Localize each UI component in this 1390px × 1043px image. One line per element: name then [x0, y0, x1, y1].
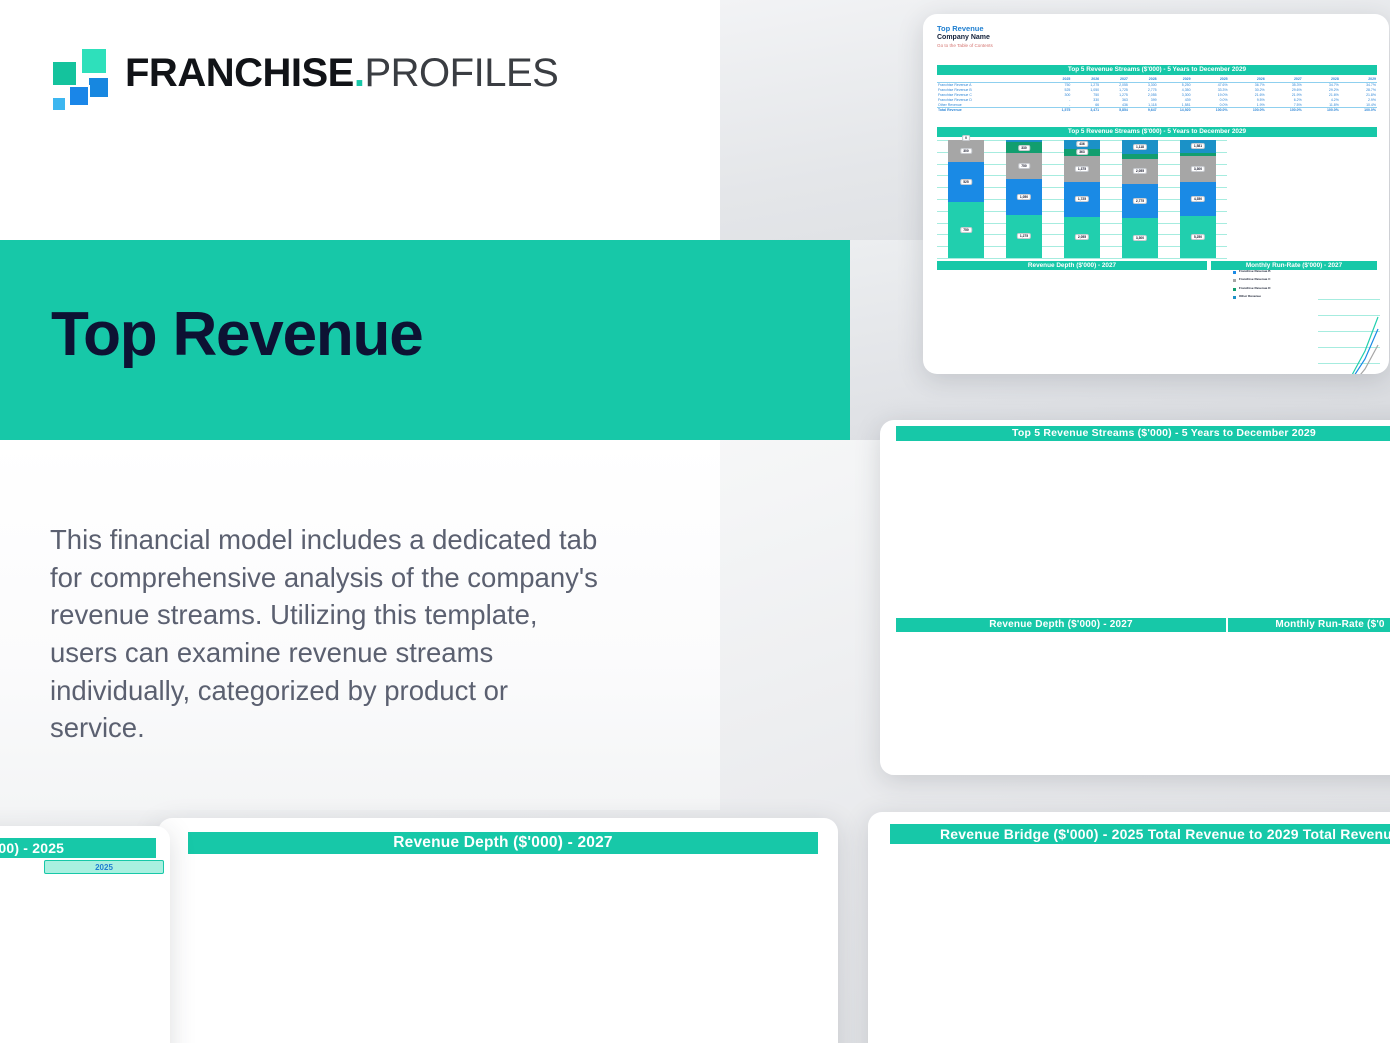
revenue-depth-plot[interactable] [196, 866, 726, 1043]
bar-segment[interactable]: 1,050 [1006, 179, 1042, 215]
revenue-bridge-card[interactable]: Revenue Bridge ($'000) - 2025 Total Reve… [868, 812, 1390, 1043]
bg-panel-top-white [0, 0, 720, 240]
depth-plot-area-mid[interactable] [900, 640, 1190, 755]
page-title: Top Revenue [51, 304, 423, 366]
stacked-bar[interactable]: 75052530000 [948, 140, 984, 258]
run-rate-pie-plot[interactable] [0, 878, 120, 1043]
legend-label: Franchise Revenue B [1239, 270, 1270, 274]
sheet-company: Company Name [937, 34, 993, 41]
legend-swatch [1233, 288, 1236, 291]
bar-segment[interactable]: 436 [1064, 140, 1100, 149]
bar-value-label: 4,350 [1191, 196, 1205, 202]
bar-value-label: 330 [1018, 145, 1030, 151]
revenue-depth-card[interactable]: Revenue Depth ($'000) - 2027 [158, 818, 838, 1043]
revenue-bridge-x-axis [926, 1035, 1390, 1043]
bar-segment[interactable]: 3,300 [1122, 218, 1158, 258]
sheet-table: 2025202620272028202920252026202720282029… [937, 77, 1377, 113]
stacked-chart-title: Top 5 Revenue Streams ($'000) - 5 Years … [896, 426, 1390, 441]
mini-stacked-chart[interactable]: 750525300001,2751,0507503302,0551,7251,3… [937, 140, 1227, 258]
legend-item: Franchise Revenue D [1233, 287, 1308, 291]
table-total-row: Total Revenue1,5753,4715,8549,64714,9201… [937, 107, 1377, 112]
bar-segment[interactable]: 330 [1006, 142, 1042, 153]
bar-segment[interactable]: 300 [948, 140, 984, 162]
sheet-band-streams: Top 5 Revenue Streams ($'000) - 5 Years … [937, 65, 1377, 75]
logo-dot: . [354, 51, 365, 95]
table-cell: 100.0% [1266, 107, 1303, 112]
logo-wordmark: FRANCHISE.PROFILES [125, 53, 558, 93]
bar-segment[interactable]: 2,055 [1122, 159, 1158, 184]
bar-segment[interactable]: 2,055 [1064, 217, 1100, 258]
table-cell: 100.0% [1229, 107, 1266, 112]
stacked-chart-card[interactable]: Top 5 Revenue Streams ($'000) - 5 Years … [880, 420, 1390, 775]
bar-segment[interactable] [1180, 153, 1216, 156]
run-rate-pie-title: y Run-Rate ($'000) - 2025 [0, 838, 156, 858]
table-cell-label: Total Revenue [937, 107, 1043, 112]
bar-segment[interactable]: 1,581 [1180, 140, 1216, 153]
bar-value-label: 1,725 [1075, 196, 1089, 202]
revenue-depth-title: Revenue Depth ($'000) - 2027 [188, 832, 818, 854]
mini-line-series [1318, 299, 1380, 374]
bar-value-label: 300 [960, 148, 972, 154]
mini-line-chart[interactable] [1318, 299, 1380, 374]
bar-value-label: 0 [962, 135, 970, 141]
table-cell: 3,471 [1071, 107, 1100, 112]
legend-label: Franchise Revenue D [1239, 287, 1270, 291]
logo-light-text: PROFILES [364, 51, 558, 95]
bar-segment[interactable]: 5,250 [1180, 216, 1216, 258]
sheet-band-runrate: Monthly Run-Rate ($'000) - 2027 [1211, 261, 1377, 270]
bar-value-label: 363 [1076, 149, 1088, 155]
legend-swatch [1233, 296, 1236, 299]
stacked-bar[interactable]: 1,2751,050750330 [1006, 140, 1042, 258]
bar-value-label: 5,250 [1191, 234, 1205, 240]
spreadsheet-preview-card[interactable]: Top Revenue Company Name Go to the Table… [923, 14, 1389, 374]
bar-segment[interactable] [1006, 140, 1042, 142]
bar-segment[interactable]: 363 [1064, 149, 1100, 156]
bar-segment[interactable]: 4,350 [1180, 182, 1216, 216]
bar-segment[interactable]: 3,300 [1180, 156, 1216, 182]
legend-item: Other Revenue [1233, 295, 1308, 299]
bar-segment[interactable]: 1,375 [1064, 156, 1100, 182]
bar-segment[interactable]: 1,118 [1122, 140, 1158, 154]
logo-bold-text: FRANCHISE [125, 51, 354, 95]
bar-value-label: 1,375 [1075, 166, 1089, 172]
revenue-bridge-title: Revenue Bridge ($'000) - 2025 Total Reve… [890, 824, 1390, 844]
run-rate-year-tab[interactable]: 2025 [44, 860, 164, 874]
page-description: This financial model includes a dedicate… [50, 521, 610, 747]
table-cell: 100.0% [1340, 107, 1377, 112]
revenue-bridge-y-axis [874, 848, 924, 1033]
bar-value-label: 750 [960, 227, 972, 233]
bar-value-label: 436 [1076, 141, 1088, 147]
legend-label: Franchise Revenue C [1239, 278, 1270, 282]
stacked-bar[interactable]: 3,3002,7752,0551,118 [1122, 140, 1158, 258]
table-cell: 5,854 [1100, 107, 1129, 112]
legend-item: Franchise Revenue B [1233, 270, 1308, 274]
bar-segment[interactable]: 2,775 [1122, 184, 1158, 218]
depth-chart-title-mid: Revenue Depth ($'000) - 2027 [896, 618, 1226, 632]
brand-logo: FRANCHISE.PROFILES [49, 44, 558, 102]
table-cell: 100.0% [1192, 107, 1229, 112]
bar-segment[interactable]: 750 [1006, 153, 1042, 178]
bar-value-label: 750 [1018, 163, 1030, 169]
bar-value-label: 3,300 [1191, 166, 1205, 172]
sheet-band-streams-2: Top 5 Revenue Streams ($'000) - 5 Years … [937, 127, 1377, 137]
sheet-toc-link[interactable]: Go to the Table of Contents [937, 43, 993, 48]
run-rate-pie-card[interactable]: y Run-Rate ($'000) - 2025 2025 [0, 826, 170, 1043]
bar-value-label: 525 [960, 179, 972, 185]
bar-value-label: 1,581 [1191, 143, 1205, 149]
bar-segment[interactable]: 750 [948, 202, 984, 258]
bar-value-label: 3,300 [1133, 235, 1147, 241]
stacked-y-axis [886, 444, 918, 606]
bar-value-label: 2,775 [1133, 198, 1147, 204]
stacked-plot-area[interactable] [920, 448, 1295, 603]
bar-value-label: 1,118 [1133, 144, 1147, 150]
bar-value-label: 2,055 [1133, 168, 1147, 174]
gridline [937, 258, 1227, 259]
table-cell: 1,575 [1043, 107, 1072, 112]
revenue-bridge-plot[interactable] [926, 852, 1390, 1032]
bar-value-label: 1,050 [1017, 194, 1031, 200]
legend-label: Other Revenue [1239, 295, 1261, 299]
bar-segment[interactable]: 525 [948, 162, 984, 201]
legend-item: Franchise Revenue C [1233, 278, 1308, 282]
bar-segment[interactable]: 1,275 [1006, 215, 1042, 258]
stacked-x-axis [920, 605, 1295, 617]
bar-segment[interactable] [1122, 154, 1158, 159]
legend-swatch [1233, 279, 1236, 282]
sheet-header: Top Revenue Company Name Go to the Table… [937, 24, 993, 48]
table-cell: 14,920 [1158, 107, 1192, 112]
bar-segment[interactable]: 1,725 [1064, 182, 1100, 217]
bar-value-label: 2,055 [1075, 234, 1089, 240]
stacked-bar[interactable]: 2,0551,7251,375363436 [1064, 140, 1100, 258]
bar-value-label: 1,275 [1017, 233, 1031, 239]
legend-swatch [1233, 271, 1236, 274]
logo-squares-icon [49, 44, 111, 102]
table-cell: 9,647 [1129, 107, 1158, 112]
sheet-title: Top Revenue [937, 24, 993, 33]
sheet-band-depth: Revenue Depth ($'000) - 2027 [937, 261, 1207, 270]
table-cell: 100.0% [1303, 107, 1340, 112]
stacked-bar[interactable]: 5,2504,3503,3001,581 [1180, 140, 1216, 258]
pie-chart-mid[interactable] [1292, 618, 1390, 768]
